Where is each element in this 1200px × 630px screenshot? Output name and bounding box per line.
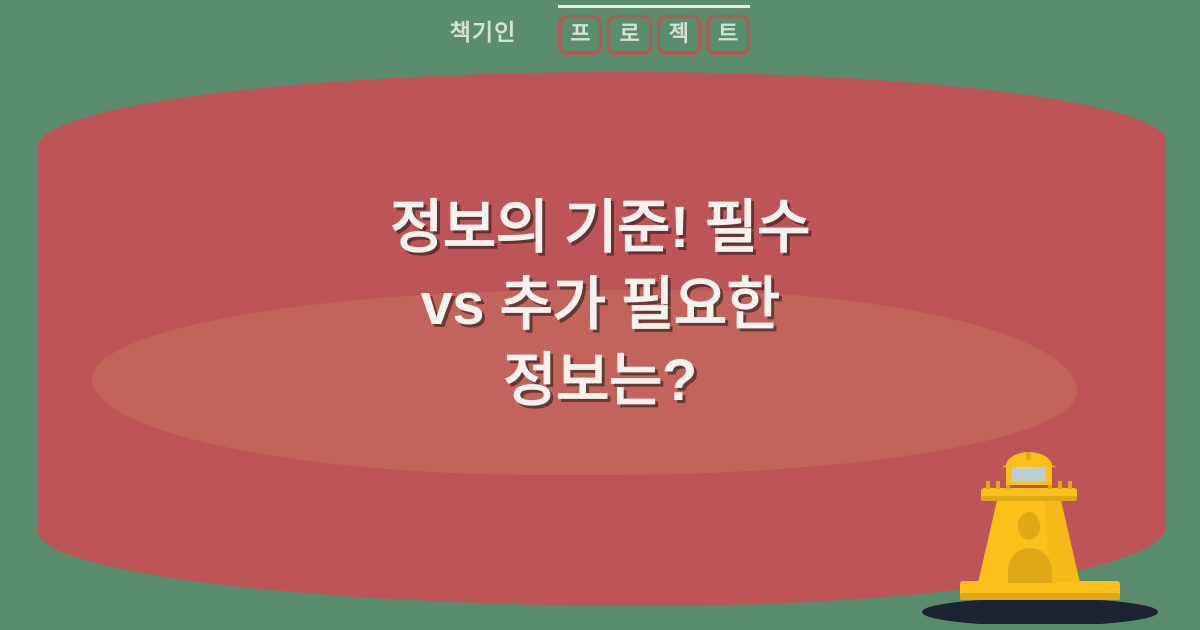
title-block: 정보의 기준! 필수 vs 추가 필요한 정보는? bbox=[0, 190, 1200, 420]
brand-label: 책기인 bbox=[450, 21, 516, 46]
boxed-char-1: 프 bbox=[558, 15, 602, 55]
title-line-1: 정보의 기준! 필수 bbox=[120, 190, 1080, 267]
lighthouse-icon bbox=[918, 452, 1178, 624]
boxed-char-3: 젝 bbox=[657, 15, 701, 55]
title-line-2: vs 추가 필요한 bbox=[120, 267, 1080, 344]
boxed-char-4: 트 bbox=[706, 15, 750, 55]
boxed-word-project: 프 로 젝 트 bbox=[558, 11, 750, 55]
title-line-3: 정보는? bbox=[120, 343, 1080, 420]
boxed-char-2: 로 bbox=[607, 15, 651, 55]
header-bar: 책기인 프 로 젝 트 bbox=[0, 0, 1200, 66]
card-canvas: 책기인 프 로 젝 트 정보의 기준! 필수 vs 추가 필요한 정보는? bbox=[0, 0, 1200, 630]
